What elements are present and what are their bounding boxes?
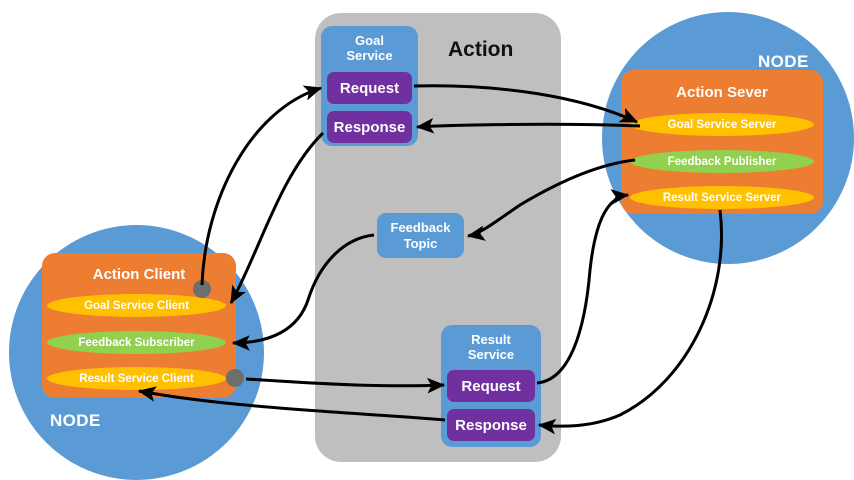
pill-feedback-publisher[interactable]: Feedback Publisher — [630, 150, 814, 173]
goal-service-request[interactable]: Request — [327, 72, 412, 104]
goal-service-title: Goal Service — [321, 33, 418, 63]
server-node-label: NODE — [758, 52, 809, 72]
pill-feedback-subscriber[interactable]: Feedback Subscriber — [47, 331, 226, 354]
result-service-response-label: Response — [455, 417, 527, 434]
pill-result-service-server[interactable]: Result Service Server — [630, 186, 814, 209]
goal-service-title-line1: Goal — [321, 33, 418, 48]
action-server-title: Action Sever — [621, 84, 823, 101]
feedback-topic-text: Feedback Topic — [391, 220, 451, 252]
goal-service-response[interactable]: Response — [327, 111, 412, 143]
result-service-title-line1: Result — [441, 332, 541, 347]
action-panel-title: Action — [448, 38, 513, 62]
connector-dot-goal-service-client — [193, 280, 211, 298]
pill-result-service-server-label: Result Service Server — [663, 192, 781, 204]
result-service-request-label: Request — [461, 378, 520, 395]
goal-service-response-label: Response — [334, 119, 406, 136]
arrow-response-to-goal-client — [231, 133, 323, 303]
goal-service-title-line2: Service — [321, 48, 418, 63]
action-client-title: Action Client — [42, 266, 236, 283]
pill-goal-service-server[interactable]: Goal Service Server — [630, 113, 814, 136]
connector-dot-result-service-client — [226, 369, 244, 387]
goal-service-request-label: Request — [340, 80, 399, 97]
pill-feedback-publisher-label: Feedback Publisher — [668, 156, 777, 168]
pill-goal-service-client-label: Goal Service Client — [84, 300, 189, 312]
client-node-label: NODE — [50, 411, 101, 431]
pill-result-service-client[interactable]: Result Service Client — [47, 367, 226, 390]
feedback-topic-line1: Feedback — [391, 220, 451, 236]
diagram-canvas: Action NODE Action Sever Goal Service Se… — [0, 0, 854, 480]
pill-goal-service-server-label: Goal Service Server — [668, 119, 777, 131]
pill-feedback-subscriber-label: Feedback Subscriber — [78, 337, 194, 349]
result-service-title: Result Service — [441, 332, 541, 362]
result-service-response[interactable]: Response — [447, 409, 535, 441]
result-service-request[interactable]: Request — [447, 370, 535, 402]
feedback-topic-line2: Topic — [391, 236, 451, 252]
result-service-title-line2: Service — [441, 347, 541, 362]
feedback-topic[interactable]: Feedback Topic — [377, 213, 464, 258]
pill-result-service-client-label: Result Service Client — [79, 373, 193, 385]
